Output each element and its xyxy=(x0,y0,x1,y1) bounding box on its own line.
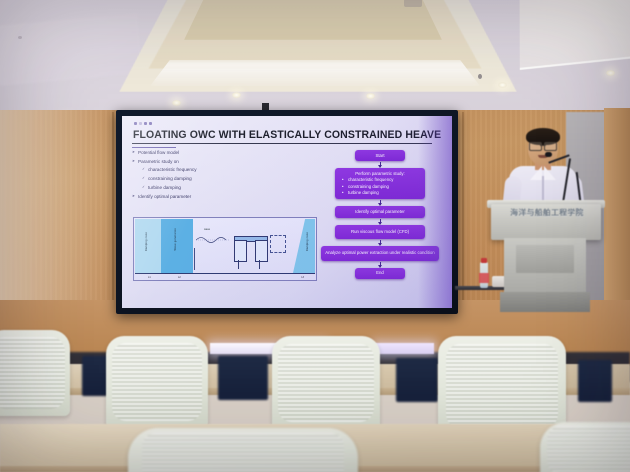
bullet-subitem: turbine damping xyxy=(134,184,284,193)
figure-wave-label: wave xyxy=(204,228,210,231)
conference-chair[interactable] xyxy=(106,336,208,428)
flow-arrow xyxy=(380,219,381,224)
wave-tank-figure: Damping zone Wave generation Damping zon… xyxy=(133,217,317,281)
bullet-item: Potential flow model xyxy=(134,149,284,158)
owc-leg-left xyxy=(234,240,247,262)
ceiling-panel-right xyxy=(520,0,630,70)
flow-arrow xyxy=(380,262,381,267)
ceiling-downlight xyxy=(498,82,507,88)
figure-tick: L1 xyxy=(148,276,151,279)
wall-light-strip xyxy=(374,343,434,354)
mooring-line-left xyxy=(238,260,239,269)
flow-arrow xyxy=(380,200,381,205)
flow-node-parametric: Perform parametric study: characteristic… xyxy=(335,168,425,199)
chair-cushion xyxy=(396,358,438,402)
flow-arrow xyxy=(380,162,381,167)
bullet-item: Parametric study on xyxy=(134,158,284,167)
flow-arrow xyxy=(380,240,381,245)
ceiling-downlight xyxy=(606,70,615,76)
flow-node-start: Start xyxy=(355,150,405,161)
display-screen[interactable]: FLOATING OWC WITH ELASTICALLY CONSTRAINE… xyxy=(122,116,452,308)
damping-zone-right xyxy=(293,219,315,273)
bottle-label xyxy=(479,273,489,283)
wave-profile-icon xyxy=(196,234,230,244)
bullet-item: Identify optimal parameter xyxy=(134,193,284,202)
figure-tick: L2 xyxy=(178,276,181,279)
mooring-line-right xyxy=(259,260,260,269)
ceiling-cove-light xyxy=(150,60,480,86)
tank-floor-line xyxy=(135,273,315,274)
bottle-cap xyxy=(481,258,487,263)
ceiling-downlight xyxy=(366,93,375,99)
bullet-subitem: characteristic frequency xyxy=(134,166,284,175)
figure-tick: L3 xyxy=(301,276,304,279)
figure-label-wave-generation: Wave generation xyxy=(174,228,177,251)
depth-dimension xyxy=(194,248,195,270)
slide-edge-glow xyxy=(418,116,452,308)
lectern-base xyxy=(500,292,590,312)
ceiling-downlight xyxy=(232,92,241,98)
title-divider xyxy=(132,143,432,144)
slide-bullet-list: Potential flow model Parametric study on… xyxy=(134,149,284,201)
conference-chair[interactable] xyxy=(438,336,566,436)
conference-chair[interactable] xyxy=(272,336,380,430)
owc-leg-right xyxy=(255,240,268,262)
conference-chair-front[interactable] xyxy=(128,428,358,472)
ceiling-vent xyxy=(404,0,422,7)
conference-presentation-photo: FLOATING OWC WITH ELASTICALLY CONSTRAINE… xyxy=(0,0,630,472)
wave-generation-zone xyxy=(161,219,193,273)
title-accent-rule xyxy=(132,147,176,148)
slide-decor-dots xyxy=(134,122,152,125)
flow-node-end: End xyxy=(355,268,405,279)
slide-title: FLOATING OWC WITH ELASTICALLY CONSTRAINE… xyxy=(133,129,433,142)
chair-cushion xyxy=(218,356,268,400)
flow-node-cfd: Run viscous flow model (CFD) xyxy=(335,225,425,239)
ceiling-vent xyxy=(18,36,22,39)
ceiling-downlight xyxy=(172,100,181,106)
chair-cushion xyxy=(578,360,612,402)
conference-chair[interactable] xyxy=(0,330,70,416)
ceiling-sensor xyxy=(478,74,482,79)
microphone-head xyxy=(545,152,552,157)
presentation-slide: FLOATING OWC WITH ELASTICALLY CONSTRAINE… xyxy=(122,116,452,308)
lectern-institution-text: 海洋与船舶工程学院 xyxy=(497,207,597,218)
figure-label-damping-right: Damping zone xyxy=(306,232,309,251)
eyeglasses-icon xyxy=(529,142,557,149)
lectern-panel-inset xyxy=(516,245,574,273)
bullet-subitem: constraining damping xyxy=(134,175,284,184)
figure-label-damping-left: Damping zone xyxy=(145,232,148,251)
flow-subitem: turbine damping xyxy=(348,190,422,196)
detail-callout xyxy=(270,235,286,253)
conference-chair-front[interactable] xyxy=(540,422,630,472)
damping-zone-left xyxy=(135,219,161,273)
flow-node-identify: Identify optimal parameter xyxy=(335,206,425,217)
